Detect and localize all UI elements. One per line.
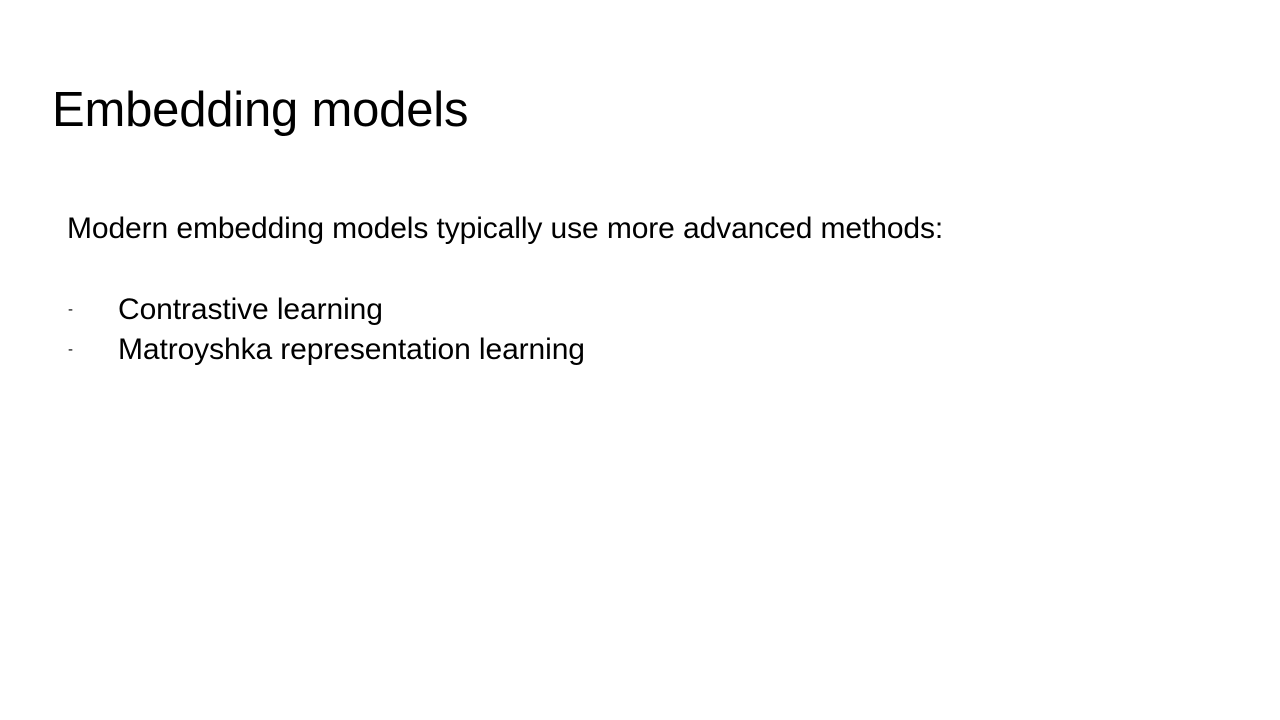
slide: Embedding models Modern embedding models… (0, 0, 1280, 720)
list-item-label: Contrastive learning (118, 290, 383, 330)
bullet-list: -Contrastive learning -Matroyshka repres… (67, 290, 1217, 370)
page-title: Embedding models (52, 81, 468, 139)
slide-body: Modern embedding models typically use mo… (67, 180, 1217, 370)
body-intro-text: Modern embedding models typically use mo… (67, 210, 1217, 248)
hyphen-bullet-icon: - (67, 330, 118, 370)
list-item-label: Matroyshka representation learning (118, 330, 585, 370)
list-item: -Matroyshka representation learning (67, 330, 1217, 370)
list-item: -Contrastive learning (67, 290, 1217, 330)
hyphen-bullet-icon: - (67, 290, 118, 330)
